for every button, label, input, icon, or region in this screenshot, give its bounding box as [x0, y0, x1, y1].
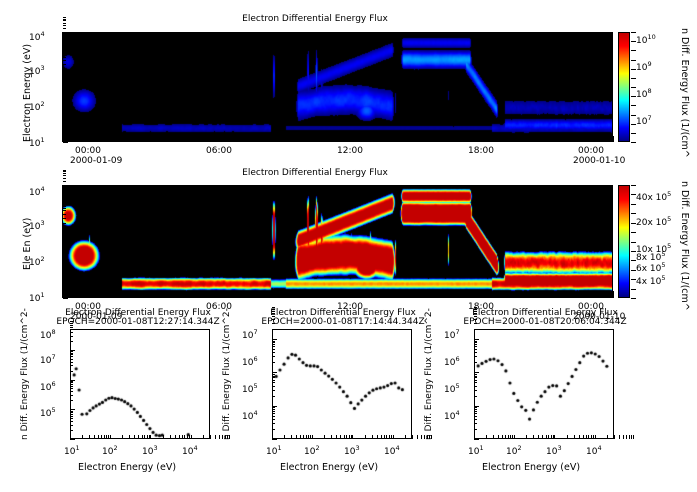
tick-mark: [429, 136, 430, 142]
tick-mark: [631, 270, 636, 271]
top-xtick-0: 00:00: [75, 146, 101, 156]
tick-mark: [184, 435, 185, 439]
top-ytick-1e4: 104: [29, 30, 45, 43]
top-cbtick-1e7: 107: [636, 114, 652, 127]
tick-mark: [631, 298, 636, 299]
tick-mark: [229, 435, 230, 439]
tick-mark: [63, 206, 66, 207]
middle-panel-ylabel: Ele En (eV): [22, 270, 74, 281]
tick-mark: [542, 435, 543, 439]
tick-mark: [70, 418, 73, 419]
tick-mark: [272, 342, 275, 343]
tick-mark: [474, 377, 477, 378]
sp1-xtick-1e4: 104: [182, 444, 198, 457]
tick-mark: [272, 323, 275, 324]
tick-mark: [574, 435, 575, 439]
tick-mark: [338, 291, 339, 298]
tick-mark: [629, 435, 630, 439]
tick-mark: [129, 435, 130, 439]
tick-mark: [177, 136, 178, 142]
tick-mark: [474, 382, 477, 383]
tick-mark: [389, 435, 390, 439]
sp3-xtick-1e4: 104: [586, 444, 602, 457]
tick-mark: [63, 91, 66, 92]
tick-mark: [63, 236, 66, 237]
tick-mark: [406, 291, 407, 298]
tick-mark: [315, 136, 316, 142]
tick-mark: [272, 376, 275, 377]
tick-mark: [474, 309, 477, 310]
tick-mark: [154, 136, 155, 142]
tick-mark: [474, 390, 477, 391]
tick-mark: [272, 339, 277, 340]
spectrum-2-plot: [272, 329, 412, 439]
tick-mark: [89, 435, 90, 439]
tick-mark: [63, 47, 68, 48]
tick-mark: [272, 439, 277, 440]
tick-mark: [63, 32, 68, 33]
middle-colorbar-frame: [618, 185, 630, 298]
tick-mark: [63, 132, 66, 133]
figure-canvas: Electron Differential Energy Flux 101 10…: [0, 0, 697, 492]
tick-mark: [474, 372, 479, 373]
tick-mark: [63, 214, 66, 215]
tick-mark: [70, 421, 73, 422]
tick-mark: [306, 435, 307, 439]
tick-mark: [70, 411, 73, 412]
tick-mark: [63, 250, 66, 251]
tick-mark: [474, 311, 477, 312]
tick-mark: [474, 416, 477, 417]
tick-mark: [508, 435, 509, 439]
tick-mark: [474, 362, 477, 363]
tick-mark: [63, 117, 66, 118]
tick-mark: [63, 115, 66, 116]
tick-mark: [215, 435, 216, 439]
tick-mark: [474, 423, 477, 424]
tick-mark: [182, 435, 183, 439]
tick-mark: [191, 435, 192, 439]
tick-mark: [417, 435, 418, 439]
tick-mark: [544, 291, 545, 298]
tick-mark: [272, 307, 275, 308]
tick-mark: [70, 412, 73, 413]
tick-mark: [210, 435, 211, 439]
tick-mark: [138, 435, 139, 439]
tick-mark: [269, 136, 270, 142]
tick-mark: [631, 289, 636, 290]
tick-mark: [554, 435, 555, 439]
tick-mark: [623, 435, 624, 439]
tick-mark: [406, 136, 407, 142]
tick-mark: [272, 390, 275, 391]
tick-mark: [108, 435, 109, 439]
tick-mark: [631, 32, 636, 33]
tick-mark: [63, 238, 66, 239]
tick-mark: [63, 208, 66, 209]
tick-mark: [391, 435, 392, 439]
tick-mark: [63, 25, 66, 26]
tick-mark: [272, 362, 275, 363]
sp3-ytick-1e5: 105: [444, 382, 460, 395]
tick-mark: [63, 95, 66, 96]
tick-mark: [474, 413, 477, 414]
tick-mark: [336, 435, 337, 439]
tick-mark: [474, 386, 477, 387]
tick-mark: [85, 291, 86, 298]
tick-mark: [292, 291, 293, 298]
tick-mark: [70, 382, 73, 383]
tick-mark: [292, 136, 293, 142]
top-xdate-right: 2000-01-10: [573, 156, 625, 166]
tick-mark: [586, 435, 587, 439]
sp1-ytick-1e8: 108: [40, 328, 56, 341]
tick-mark: [631, 133, 636, 134]
tick-mark: [474, 344, 477, 345]
tick-mark: [498, 291, 499, 298]
tick-mark: [227, 435, 228, 439]
tick-mark: [63, 88, 66, 89]
mid-cbtick-20e5: 20x 105: [636, 215, 671, 228]
tick-mark: [291, 435, 292, 439]
tick-mark: [108, 136, 109, 142]
tick-mark: [63, 256, 66, 257]
tick-mark: [219, 435, 220, 439]
tick-mark: [383, 291, 384, 298]
tick-mark: [474, 376, 477, 377]
tick-mark: [284, 435, 285, 439]
tick-mark: [613, 136, 614, 142]
tick-mark: [590, 291, 591, 298]
tick-mark: [498, 136, 499, 142]
tick-mark: [272, 374, 275, 375]
tick-mark: [63, 20, 66, 21]
tick-mark: [386, 435, 387, 439]
tick-mark: [272, 416, 275, 417]
tick-mark: [474, 346, 477, 347]
tick-mark: [70, 336, 73, 337]
tick-mark: [70, 380, 75, 381]
tick-mark: [300, 435, 301, 439]
tick-mark: [303, 435, 304, 439]
tick-mark: [63, 173, 66, 174]
tick-mark: [110, 435, 111, 439]
tick-mark: [631, 185, 636, 186]
tick-mark: [63, 240, 66, 241]
sp2-ytick-1e5: 105: [242, 382, 258, 395]
tick-mark: [63, 80, 66, 81]
tick-mark: [272, 396, 275, 397]
tick-mark: [607, 435, 608, 439]
sp2-xtick-1e4: 104: [384, 444, 400, 457]
tick-mark: [70, 362, 73, 363]
tick-mark: [272, 352, 275, 353]
tick-mark: [474, 352, 477, 353]
tick-mark: [63, 54, 66, 55]
tick-mark: [63, 110, 68, 111]
tick-mark: [70, 321, 73, 322]
mid-ytick-1e4: 104: [29, 185, 45, 198]
tick-mark: [246, 291, 247, 298]
tick-mark: [631, 41, 636, 42]
tick-mark: [170, 435, 171, 439]
tick-mark: [272, 346, 275, 347]
tick-mark: [474, 339, 479, 340]
tick-mark: [63, 142, 68, 143]
tick-mark: [70, 350, 75, 351]
top-colorbar-label: n Diff. Energy Flux (1/(cm^: [690, 28, 697, 39]
tick-mark: [372, 435, 373, 439]
tick-mark: [429, 291, 430, 298]
tick-mark: [63, 273, 66, 274]
tick-mark: [70, 327, 73, 328]
tick-mark: [108, 291, 109, 298]
tick-mark: [63, 112, 66, 113]
tick-mark: [63, 269, 66, 270]
tick-mark: [533, 435, 534, 439]
tick-mark: [498, 435, 499, 439]
tick-mark: [179, 435, 180, 439]
tick-mark: [349, 435, 350, 439]
tick-mark: [310, 435, 311, 439]
tick-mark: [272, 377, 275, 378]
tick-mark: [595, 435, 596, 439]
tick-mark: [272, 429, 275, 430]
tick-mark: [551, 435, 552, 439]
middle-colorbar-label: n Diff. Energy Flux (1/(cm^: [690, 181, 697, 192]
tick-mark: [421, 435, 422, 439]
tick-mark: [70, 365, 73, 366]
tick-mark: [365, 435, 366, 439]
sp2-ytick-1e6: 106: [242, 355, 258, 368]
tick-mark: [203, 435, 204, 439]
top-xtick-3: 18:00: [468, 146, 494, 156]
tick-mark: [63, 267, 66, 268]
tick-mark: [272, 413, 275, 414]
tick-mark: [631, 213, 636, 214]
tick-mark: [70, 356, 73, 357]
tick-mark: [548, 435, 549, 439]
tick-mark: [384, 435, 385, 439]
spectrum-3-subtitle: EPOCH=2000-01-08T20:06:04.344Z: [440, 317, 650, 327]
tick-mark: [631, 142, 636, 143]
tick-mark: [63, 283, 66, 284]
tick-mark: [312, 435, 313, 439]
tick-mark: [131, 136, 132, 142]
tick-mark: [200, 291, 201, 298]
tick-mark: [70, 416, 73, 417]
tick-mark: [474, 406, 479, 407]
tick-mark: [63, 57, 66, 58]
tick-mark: [63, 233, 68, 234]
tick-mark: [486, 435, 487, 439]
mid-cbtick-6e5: 6x 105: [636, 261, 666, 274]
top-cbtick-1e10: 1010: [636, 33, 656, 46]
top-cbtick-1e9: 109: [636, 60, 652, 73]
tick-mark: [631, 50, 636, 51]
tick-mark: [63, 84, 66, 85]
spectrum-3-plot: [474, 329, 614, 439]
tick-mark: [579, 435, 580, 439]
tick-mark: [62, 136, 63, 142]
tick-mark: [63, 223, 66, 224]
tick-mark: [393, 435, 394, 439]
mid-ytick-1e1: 101: [29, 291, 45, 304]
tick-mark: [631, 194, 636, 195]
tick-mark: [63, 19, 66, 20]
tick-mark: [631, 223, 636, 224]
tick-mark: [272, 319, 275, 320]
tick-mark: [70, 430, 73, 431]
spectrum-2-xlabel: Electron Energy (eV): [280, 462, 378, 473]
tick-mark: [150, 435, 151, 439]
tick-mark: [474, 342, 477, 343]
tick-mark: [626, 435, 627, 439]
tick-mark: [272, 356, 275, 357]
tick-mark: [272, 349, 275, 350]
tick-mark: [474, 419, 477, 420]
tick-mark: [63, 181, 66, 182]
tick-mark: [272, 419, 275, 420]
tick-mark: [631, 279, 636, 280]
tick-mark: [377, 435, 378, 439]
tick-mark: [272, 409, 275, 410]
top-panel-ylabel: Electron Energy (eV): [22, 142, 120, 153]
tick-mark: [474, 407, 477, 408]
tick-mark: [538, 435, 539, 439]
tick-mark: [296, 435, 297, 439]
tick-mark: [474, 307, 477, 308]
tick-mark: [272, 341, 275, 342]
tick-mark: [272, 372, 277, 373]
tick-mark: [631, 105, 636, 106]
tick-mark: [269, 291, 270, 298]
tick-mark: [70, 359, 73, 360]
tick-mark: [452, 291, 453, 298]
tick-mark: [352, 435, 353, 439]
tick-mark: [63, 49, 66, 50]
tick-mark: [272, 423, 275, 424]
tick-mark: [63, 185, 68, 186]
tick-mark: [163, 435, 164, 439]
tick-mark: [521, 291, 522, 298]
tick-mark: [63, 120, 66, 121]
tick-mark: [505, 435, 506, 439]
tick-mark: [63, 64, 66, 65]
tick-mark: [62, 291, 63, 298]
sp3-ytick-1e7: 107: [444, 328, 460, 341]
tick-mark: [546, 435, 547, 439]
tick-mark: [360, 291, 361, 298]
tick-mark: [346, 435, 347, 439]
top-xdate-left: 2000-01-09: [70, 156, 122, 166]
tick-mark: [104, 435, 105, 439]
tick-mark: [63, 123, 66, 124]
tick-mark: [70, 425, 73, 426]
tick-mark: [526, 435, 527, 439]
tick-mark: [344, 435, 345, 439]
tick-mark: [85, 136, 86, 142]
mid-cbtick-4e5: 4x 105: [636, 274, 666, 287]
sp3-ytick-1e4: 104: [444, 409, 460, 422]
tick-mark: [272, 411, 275, 412]
spectrum-3-ylabel: n Diff. Energy Flux (1/(cm^2-: [424, 440, 556, 450]
spectrum-2-ylabel: n Diff. Energy Flux (1/(cm^2-: [222, 440, 354, 450]
tick-mark: [70, 332, 73, 333]
tick-mark: [63, 246, 66, 247]
tick-mark: [63, 101, 66, 102]
tick-mark: [474, 349, 477, 350]
tick-mark: [70, 388, 73, 389]
spectrum-1-xlabel: Electron Energy (eV): [78, 462, 176, 473]
tick-mark: [631, 115, 636, 116]
tick-mark: [474, 341, 477, 342]
tick-mark: [567, 435, 568, 439]
tick-mark: [63, 298, 68, 299]
tick-mark: [424, 435, 425, 439]
tick-mark: [63, 113, 66, 114]
middle-plot-frame: [62, 185, 613, 298]
tick-mark: [614, 435, 615, 439]
tick-mark: [631, 204, 636, 205]
tick-mark: [63, 201, 68, 202]
tick-mark: [63, 235, 66, 236]
tick-mark: [272, 313, 275, 314]
tick-mark: [70, 409, 75, 410]
tick-mark: [631, 124, 636, 125]
spectrum-1-ylabel: n Diff. Energy Flux (1/(cm^2-: [20, 440, 152, 450]
tick-mark: [70, 414, 73, 415]
tick-mark: [324, 435, 325, 439]
mid-cbtick-40e5: 40x 105: [636, 190, 671, 203]
tick-mark: [272, 380, 275, 381]
tick-mark: [474, 396, 477, 397]
tick-mark: [63, 243, 66, 244]
tick-mark: [63, 17, 66, 18]
tick-mark: [452, 136, 453, 142]
tick-mark: [101, 435, 102, 439]
tick-mark: [272, 309, 275, 310]
tick-mark: [474, 319, 477, 320]
tick-mark: [474, 380, 477, 381]
tick-mark: [63, 23, 66, 24]
tick-mark: [225, 435, 226, 439]
tick-mark: [144, 435, 145, 439]
tick-mark: [63, 79, 68, 80]
tick-mark: [223, 136, 224, 142]
tick-mark: [70, 384, 73, 385]
tick-mark: [175, 435, 176, 439]
tick-mark: [474, 329, 477, 330]
tick-mark: [383, 136, 384, 142]
tick-mark: [70, 351, 73, 352]
tick-mark: [70, 381, 73, 382]
tick-mark: [331, 435, 332, 439]
tick-mark: [514, 435, 515, 439]
sp3-ytick-1e6: 106: [444, 355, 460, 368]
tick-mark: [474, 316, 477, 317]
spectrum-3-xlabel: Electron Energy (eV): [482, 462, 580, 473]
tick-mark: [493, 435, 494, 439]
tick-mark: [272, 407, 275, 408]
tick-mark: [619, 435, 620, 439]
tick-mark: [70, 400, 73, 401]
top-xtick-4: 00:00: [578, 146, 604, 156]
tick-mark: [474, 374, 477, 375]
spectrum-1-subtitle: EPOCH=2000-01-08T12:27:14.344Z: [38, 317, 238, 327]
tick-mark: [474, 429, 477, 430]
top-plot-frame: [62, 32, 613, 142]
